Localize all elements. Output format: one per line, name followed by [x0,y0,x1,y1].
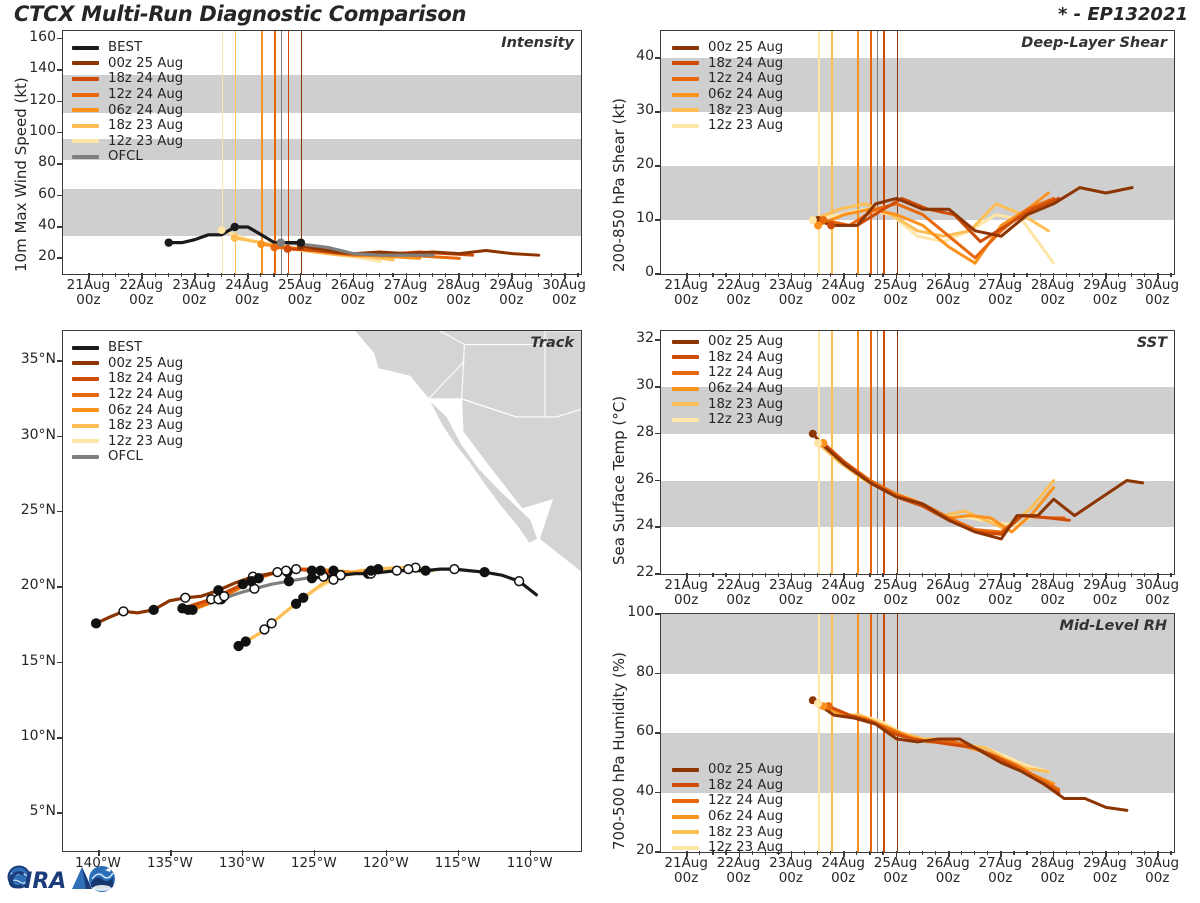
x-tick-label: 30Aug00z [1125,578,1189,608]
intensity-panel-title: Intensity [501,35,574,51]
track-marker-open [220,592,229,601]
y-tick-mark [655,165,660,167]
y-tick-label: 100 [614,604,654,620]
legend-color-swatch [672,340,699,344]
legend-item[interactable]: OFCL [72,149,183,165]
y-tick-mark [57,132,62,134]
legend-label: 18z 24 Aug [708,56,783,71]
track-marker-filled [285,577,294,586]
legend-color-swatch [672,830,699,834]
legend-color-swatch [672,355,699,359]
x-tick-label: 30Aug00z [1125,856,1189,886]
best-track-marker [297,238,305,246]
legend-label: 18z 24 Aug [708,778,783,793]
y-tick-label: 40 [16,217,56,233]
series-line [818,193,1048,263]
y-tick-mark [57,226,62,228]
shear-y-axis-label: 200-850 hPa Shear (kt) [610,98,628,272]
y-tick-label: 40 [614,48,654,64]
rh-panel-title: Mid-Level RH [1060,618,1167,634]
legend-color-swatch [672,846,699,850]
legend-color-swatch [72,455,99,459]
ofcl-marker [277,238,285,246]
track-x-tick-label: 115°W [423,856,493,871]
legend-item[interactable]: 06z 24 Aug [72,402,183,418]
legend-color-swatch [72,346,99,350]
series-init-marker [809,216,817,224]
legend-label: 18z 23 Aug [708,103,783,118]
border-line [581,339,582,410]
legend-color-swatch [672,124,699,128]
y-tick-label: 140 [16,60,56,76]
y-tick-label: 22 [614,564,654,580]
legend-item[interactable]: BEST [72,340,183,356]
series-line [818,188,1132,237]
legend-color-swatch [672,108,699,112]
track-marker-open [181,593,190,602]
x-tick-label: 30Aug00z [1125,278,1189,308]
series-line [818,443,1038,525]
sst-panel-title: SST [1137,335,1167,351]
track-marker-filled [292,599,301,608]
legend-item[interactable]: 12z 23 Aug [72,134,183,150]
legend-color-swatch [72,424,99,428]
y-tick-mark [655,792,660,794]
legend-color-swatch [72,439,99,443]
y-tick-mark [655,57,660,59]
y-tick-mark [57,257,62,259]
legend-label: 12z 24 Aug [708,793,783,808]
legend-item[interactable]: 12z 24 Aug [672,365,783,381]
legend-label: 12z 24 Aug [708,71,783,86]
legend-item[interactable]: 12z 23 Aug [672,412,783,428]
page-title: CTCX Multi-Run Diagnostic Comparison [14,2,466,26]
y-tick-mark [655,613,660,615]
track-y-tick-label: 20°N [4,577,56,593]
legend-color-swatch [672,815,699,819]
legend-color-swatch [72,139,99,143]
legend-color-swatch [72,408,99,412]
track-x-tick-label: 130°W [207,856,277,871]
track-marker-filled [92,619,101,628]
y-tick-label: 20 [614,156,654,172]
svg-text:CIRA: CIRA [8,869,66,894]
shear-legend: 00z 25 Aug18z 24 Aug12z 24 Aug06z 24 Aug… [672,40,783,134]
sst-legend: 00z 25 Aug18z 24 Aug12z 24 Aug06z 24 Aug… [672,334,783,428]
series-init-marker [827,221,835,229]
series-init-marker [809,430,817,438]
legend-color-swatch [672,93,699,97]
legend-label: BEST [108,340,142,355]
y-tick-mark [57,737,62,739]
legend-label: 12z 23 Aug [108,134,183,149]
legend-label: 00z 25 Aug [708,40,783,55]
legend-item[interactable]: 12z 24 Aug [672,793,783,809]
track-marker-open [282,566,291,575]
legend-item[interactable]: 18z 23 Aug [672,824,783,840]
best-track-marker [231,223,239,231]
legend-item[interactable]: 18z 24 Aug [672,778,783,794]
track-marker-filled [149,605,158,614]
track-marker-filled [316,566,325,575]
y-tick-mark [655,386,660,388]
y-tick-mark [57,101,62,103]
legend-item[interactable]: 00z 25 Aug [72,356,183,372]
track-marker-filled [238,580,247,589]
track-x-tick-label: 110°W [495,856,565,871]
track-y-tick-label: 35°N [4,351,56,367]
y-tick-mark [57,662,62,664]
legend-color-swatch [672,418,699,422]
legend-item[interactable]: 18z 23 Aug [72,118,183,134]
legend-color-swatch [672,768,699,772]
track-y-tick-label: 10°N [4,728,56,744]
legend-label: 18z 23 Aug [708,397,783,412]
y-tick-mark [655,273,660,275]
legend-label: 00z 25 Aug [108,356,183,371]
series-init-marker [814,439,822,447]
legend-color-swatch [72,46,99,50]
y-tick-mark [57,163,62,165]
x-tick-label: 30Aug00z [532,278,596,308]
y-tick-mark [655,339,660,341]
series-line [813,434,1143,539]
series-init-marker [284,245,292,253]
legend-item[interactable]: 00z 25 Aug [672,40,783,56]
legend-color-swatch [72,108,99,112]
cira-logo: CIRA [6,857,118,899]
track-y-tick-label: 5°N [4,803,56,819]
legend-label: 12z 23 Aug [708,118,783,133]
legend-item[interactable]: BEST [72,40,183,56]
rh-legend: 00z 25 Aug18z 24 Aug12z 24 Aug06z 24 Aug… [672,762,783,856]
legend-color-swatch [672,61,699,65]
series-init-marker [257,240,265,248]
y-tick-label: 0 [614,264,654,280]
track-marker-filled [421,566,430,575]
y-tick-label: 20 [614,842,654,858]
track-marker-open [392,566,401,575]
legend-label: 12z 23 Aug [708,840,783,855]
y-tick-label: 80 [614,664,654,680]
legend-color-swatch [72,377,99,381]
shear-panel-title: Deep-Layer Shear [1021,35,1167,51]
legend-item[interactable]: 06z 24 Aug [672,87,783,103]
y-tick-label: 30 [614,102,654,118]
legend-color-swatch [672,783,699,787]
series-line [823,443,1069,534]
legend-label: BEST [108,40,142,55]
legend-item[interactable]: 18z 24 Aug [72,371,183,387]
y-tick-label: 30 [614,377,654,393]
legend-label: 12z 23 Aug [708,412,783,427]
track-y-tick-label: 30°N [4,427,56,443]
y-tick-label: 20 [16,248,56,264]
y-tick-label: 100 [16,123,56,139]
legend-color-swatch [72,393,99,397]
legend-label: 18z 23 Aug [108,418,183,433]
legend-label: 18z 23 Aug [708,825,783,840]
legend-item[interactable]: 12z 23 Aug [672,840,783,856]
legend-item[interactable]: 06z 24 Aug [672,381,783,397]
y-tick-mark [655,851,660,853]
legend-item[interactable]: 00z 25 Aug [72,56,183,72]
legend-item[interactable]: 18z 23 Aug [72,418,183,434]
track-legend: BEST00z 25 Aug18z 24 Aug12z 24 Aug06z 24… [72,340,183,465]
legend-label: OFCL [108,149,143,164]
legend-item[interactable]: 12z 24 Aug [72,87,183,103]
y-tick-mark [57,360,62,362]
track-x-tick-label: 125°W [279,856,349,871]
legend-label: 12z 24 Aug [708,365,783,380]
legend-color-swatch [672,46,699,50]
legend-item[interactable]: 00z 25 Aug [672,334,783,350]
track-marker-open [515,577,524,586]
y-tick-label: 60 [16,186,56,202]
y-tick-label: 80 [16,154,56,170]
legend-color-swatch [672,402,699,406]
track-x-tick-label: 120°W [351,856,421,871]
y-tick-label: 40 [614,783,654,799]
track-marker-open [260,625,269,634]
y-tick-mark [57,586,62,588]
legend-color-swatch [672,77,699,81]
series-init-marker [814,699,822,707]
track-marker-filled [234,642,243,651]
track-marker-filled [480,568,489,577]
track-marker-filled [308,566,317,575]
legend-label: 00z 25 Aug [108,56,183,71]
y-tick-label: 120 [16,92,56,108]
legend-color-swatch [72,361,99,365]
y-tick-mark [57,69,62,71]
y-tick-label: 60 [614,723,654,739]
legend-label: 06z 24 Aug [108,403,183,418]
y-tick-mark [57,195,62,197]
track-marker-filled [367,566,376,575]
track-marker-open [119,607,128,616]
legend-color-swatch [672,371,699,375]
legend-item[interactable]: OFCL [72,449,183,465]
legend-color-swatch [72,93,99,97]
legend-item[interactable]: 12z 24 Aug [72,387,183,403]
track-marker-filled [254,574,263,583]
legend-label: 00z 25 Aug [708,334,783,349]
legend-label: 12z 24 Aug [108,387,183,402]
track-panel-title: Track [531,335,574,351]
y-tick-label: 160 [16,29,56,45]
track-x-tick-label: 135°W [135,856,205,871]
track-marker-open [404,565,413,574]
y-tick-mark [655,219,660,221]
storm-id-label: * - EP132021 [1058,4,1188,25]
legend-color-swatch [72,77,99,81]
track-marker-open [273,568,282,577]
y-tick-mark [57,812,62,814]
legend-color-swatch [72,155,99,159]
track-marker-filled [188,605,197,614]
track-y-tick-label: 15°N [4,653,56,669]
track-marker-open [450,565,459,574]
intensity-legend: BEST00z 25 Aug18z 24 Aug12z 24 Aug06z 24… [72,40,183,165]
legend-item[interactable]: 18z 23 Aug [672,102,783,118]
legend-item[interactable]: 18z 24 Aug [72,71,183,87]
legend-color-swatch [672,799,699,803]
legend-label: 06z 24 Aug [108,103,183,118]
y-tick-mark [655,480,660,482]
y-tick-mark [655,573,660,575]
legend-label: 06z 24 Aug [708,381,783,396]
y-tick-mark [655,732,660,734]
legend-item[interactable]: 00z 25 Aug [672,762,783,778]
y-tick-label: 32 [614,330,654,346]
y-tick-mark [57,436,62,438]
legend-item[interactable]: 18z 23 Aug [672,396,783,412]
legend-item[interactable]: 18z 24 Aug [672,56,783,72]
landmass-shape [319,330,582,678]
series-init-marker [218,226,226,234]
legend-label: 18z 24 Aug [108,71,183,86]
legend-item[interactable]: 12z 23 Aug [72,434,183,450]
legend-item[interactable]: 18z 24 Aug [672,350,783,366]
legend-color-swatch [72,61,99,65]
series-line [823,198,1053,257]
legend-item[interactable]: 06z 24 Aug [672,809,783,825]
track-y-tick-label: 25°N [4,502,56,518]
legend-color-swatch [672,387,699,391]
y-tick-mark [57,511,62,513]
legend-label: 12z 23 Aug [108,434,183,449]
y-tick-label: 10 [614,210,654,226]
legend-label: 06z 24 Aug [708,87,783,102]
y-tick-label: 24 [614,517,654,533]
y-tick-mark [655,111,660,113]
legend-label: 18z 24 Aug [108,371,183,386]
legend-label: 06z 24 Aug [708,809,783,824]
y-tick-mark [655,433,660,435]
series-line [818,703,1048,771]
legend-label: 12z 24 Aug [108,87,183,102]
legend-color-swatch [72,124,99,128]
y-tick-mark [655,673,660,675]
track-marker-open [329,575,338,584]
legend-item[interactable]: 12z 24 Aug [672,71,783,87]
y-tick-label: 28 [614,424,654,440]
legend-label: 18z 23 Aug [108,118,183,133]
series-init-marker [231,234,239,242]
legend-item[interactable]: 12z 23 Aug [672,118,783,134]
legend-label: OFCL [108,449,143,464]
legend-label: 18z 24 Aug [708,350,783,365]
legend-item[interactable]: 06z 24 Aug [72,102,183,118]
rh-y-axis-label: 700-500 hPa Humidity (%) [610,652,628,850]
y-tick-mark [57,38,62,40]
legend-label: 00z 25 Aug [708,762,783,777]
y-tick-mark [655,526,660,528]
track-marker-open [292,565,301,574]
best-track-marker [165,238,173,246]
y-tick-label: 26 [614,471,654,487]
